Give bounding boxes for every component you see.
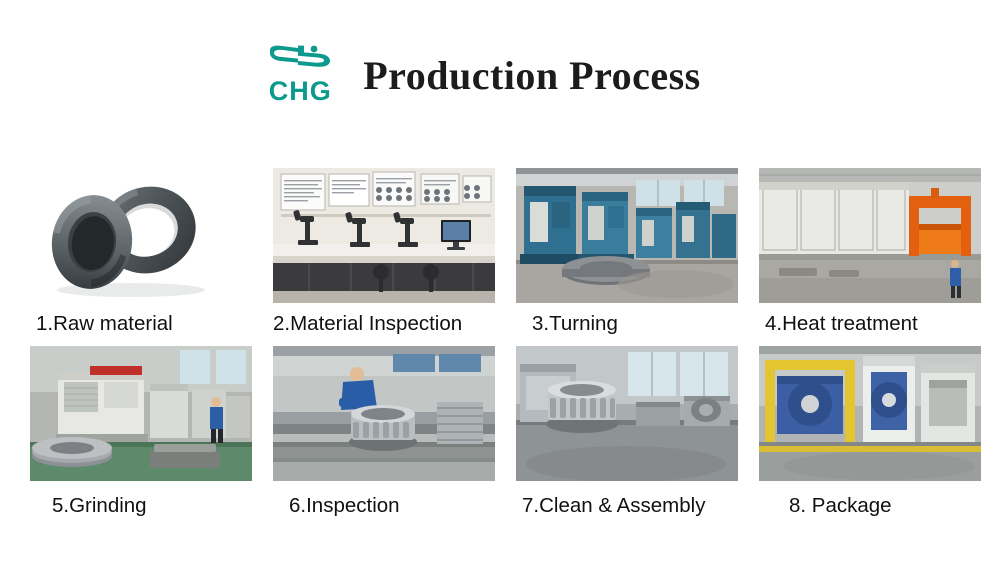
chg-monogram-icon xyxy=(268,44,332,74)
heat-treatment-image xyxy=(759,168,981,303)
process-step-2: 2.Material Inspection xyxy=(273,168,495,336)
header-inner: CHG Production Process xyxy=(263,44,701,106)
turning-image xyxy=(516,168,738,303)
process-step-1-label: 1.Raw material xyxy=(30,312,252,336)
clean-assembly-image xyxy=(516,346,738,481)
process-step-7: 7.Clean & Assembly xyxy=(516,346,738,518)
process-step-8-label: 8. Package xyxy=(759,494,981,518)
process-step-7-label: 7.Clean & Assembly xyxy=(516,494,738,518)
process-step-5: 5.Grinding xyxy=(30,346,252,518)
page-title: Production Process xyxy=(363,52,701,99)
process-step-4-label: 4.Heat treatment xyxy=(759,312,981,336)
brand-text: CHG xyxy=(269,76,332,106)
process-grid: 1.Raw material xyxy=(30,168,982,518)
process-step-6-label: 6.Inspection xyxy=(273,494,495,518)
grinding-image xyxy=(30,346,252,481)
inspection-image xyxy=(273,346,495,481)
process-step-3-label: 3.Turning xyxy=(516,312,738,336)
page-header: CHG Production Process xyxy=(0,0,1000,150)
raw-material-image xyxy=(30,168,252,303)
process-step-6: 6.Inspection xyxy=(273,346,495,518)
process-step-2-label: 2.Material Inspection xyxy=(273,312,495,336)
process-step-8: 8. Package xyxy=(759,346,981,518)
package-image xyxy=(759,346,981,481)
brand-logo: CHG xyxy=(263,44,337,106)
process-step-4: 4.Heat treatment xyxy=(759,168,981,336)
material-inspection-image xyxy=(273,168,495,303)
process-step-3: 3.Turning xyxy=(516,168,738,336)
process-step-1: 1.Raw material xyxy=(30,168,252,336)
process-step-5-label: 5.Grinding xyxy=(30,494,252,518)
